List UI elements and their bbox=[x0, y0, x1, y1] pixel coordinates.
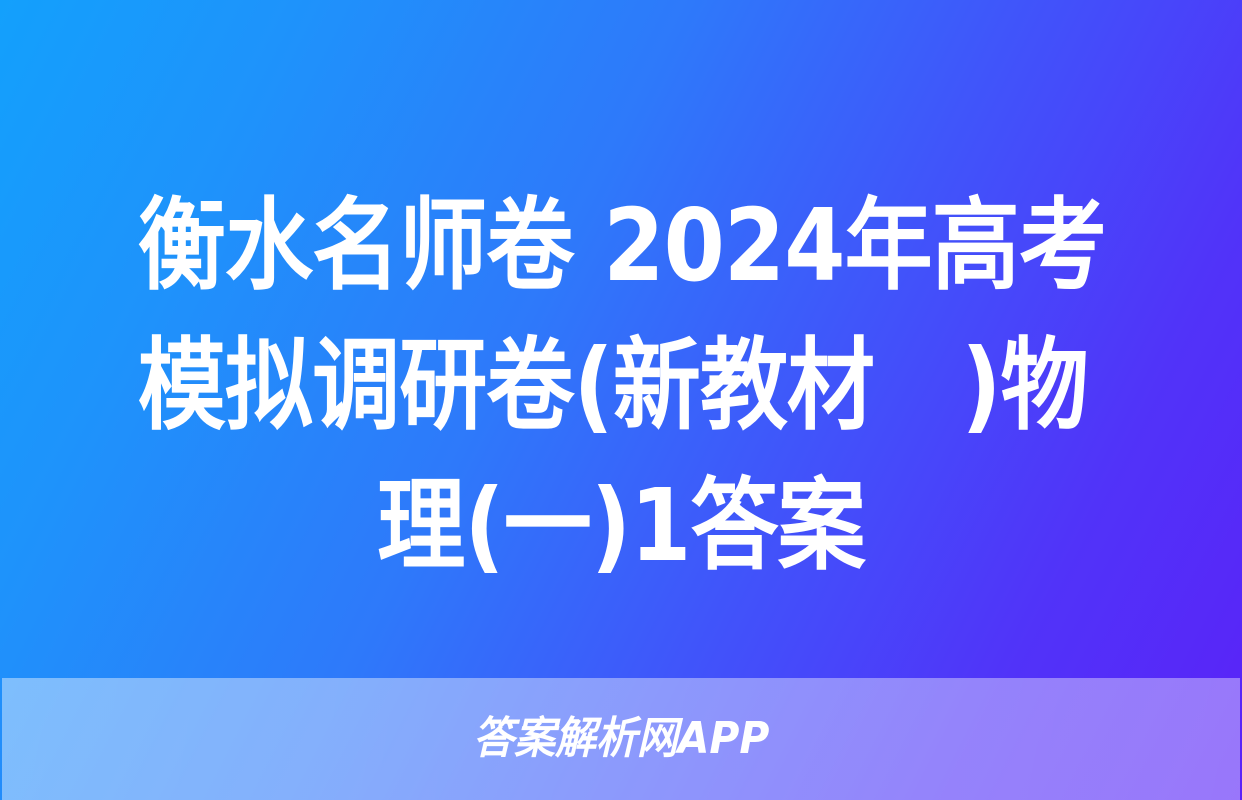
footer-brand-label: 答案解析网APP bbox=[473, 717, 769, 761]
footer-brand-banner: 答案解析网APP bbox=[2, 678, 1240, 800]
title-line-3: 理(一)1答案 bbox=[138, 456, 1104, 596]
title-line-1: 衡水名师卷 2024年高考 bbox=[138, 176, 1104, 316]
title-line-2: 模拟调研卷(新教材 )物 bbox=[138, 316, 1104, 456]
exam-answer-card: 衡水名师卷 2024年高考 模拟调研卷(新教材 )物 理(一)1答案 答案解析网… bbox=[0, 0, 1242, 800]
title-block: 衡水名师卷 2024年高考 模拟调研卷(新教材 )物 理(一)1答案 bbox=[0, 176, 1242, 616]
